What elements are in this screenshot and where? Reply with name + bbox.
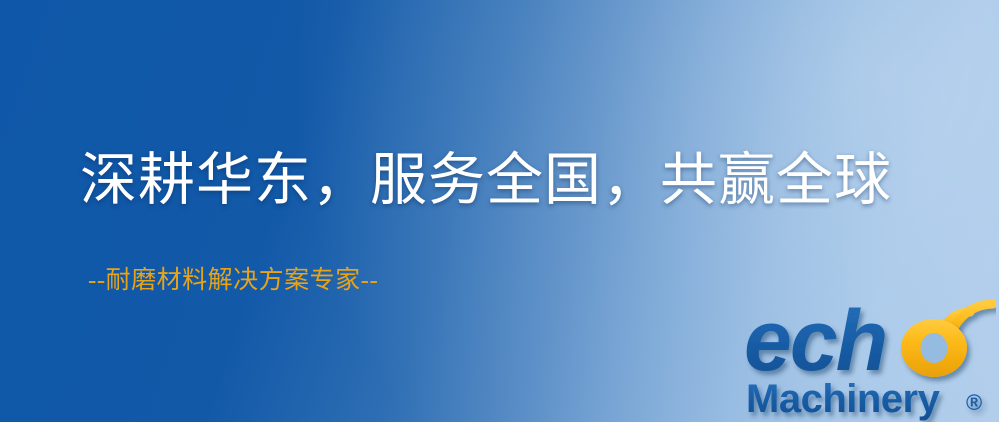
banner-headline: 深耕华东，服务全国，共赢全球	[80, 152, 892, 209]
logo-registered-trademark-icon: ®	[966, 390, 982, 415]
logo-tagline-machinery: Machinery	[746, 377, 941, 421]
hero-banner: 深耕华东，服务全国，共赢全球 --耐磨材料解决方案专家--	[0, 0, 999, 422]
logo-letter-o-gold	[901, 319, 967, 377]
logo-wordmark-echo: ech	[744, 296, 886, 389]
echo-machinery-logo[interactable]: ech Machinery ®	[744, 296, 996, 422]
banner-subheadline: --耐磨材料解决方案专家--	[88, 268, 378, 293]
